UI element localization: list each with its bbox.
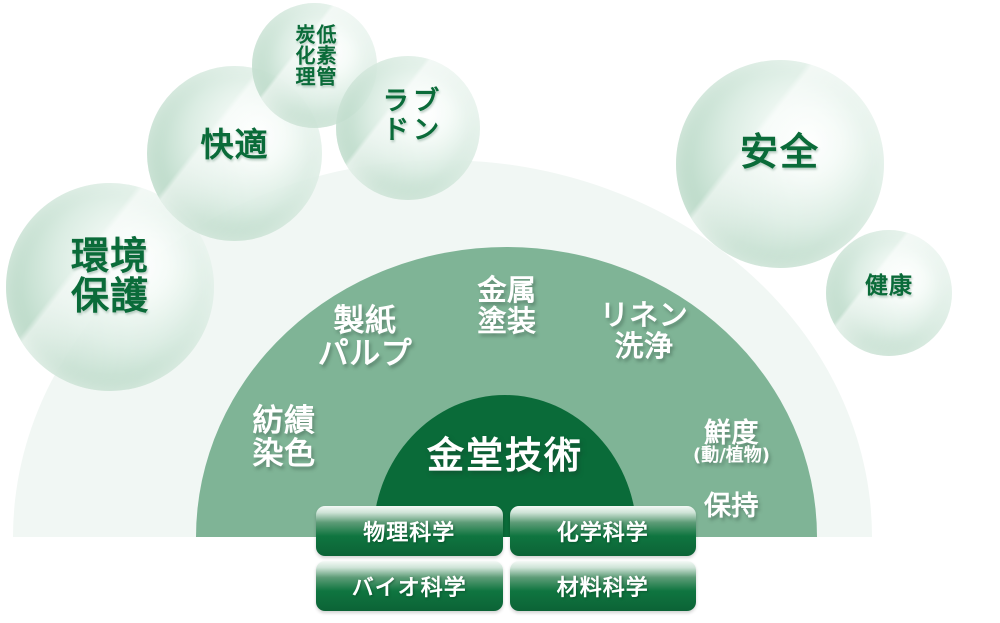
bubble-brand[interactable]: ラド ブン — [336, 56, 480, 200]
science-foundation-button-group: 物理科学 化学科学 バイオ科学 材料科学 — [316, 506, 696, 611]
bubble-health[interactable]: 健康 — [826, 230, 952, 356]
carbon-column-right: 低素管 — [315, 24, 335, 87]
brand-column-right: ブン — [410, 86, 437, 144]
button-physical-science[interactable]: 物理科学 — [316, 506, 503, 556]
button-material-science[interactable]: 材料科学 — [510, 561, 697, 611]
diagram-canvas: 製紙 パルプ 金属 塗装 リネン 洗浄 紡績 染色 鮮度 (動/植物) 保持 金… — [0, 0, 1000, 623]
dome-label-freshness-retention: 鮮度 (動/植物) 保持 — [669, 392, 794, 520]
freshness-line-3: 保持 — [704, 491, 759, 522]
button-bio-science[interactable]: バイオ科学 — [316, 561, 503, 611]
button-chemical-science[interactable]: 化学科学 — [510, 506, 697, 556]
bubble-label-brand: ラド ブン — [336, 86, 480, 144]
core-technology-label: 金堂技術 — [385, 436, 625, 476]
carbon-column-left: 炭化理 — [294, 24, 314, 87]
dome-label-paper-pulp: 製紙 パルプ — [300, 305, 430, 372]
bubble-label-environment-protection: 環境 保護 — [6, 237, 214, 316]
dome-label-spinning-dyeing: 紡績 染色 — [229, 405, 339, 472]
dome-label-metal-coating: 金属 塗装 — [447, 275, 567, 338]
dome-label-linen-washing: リネン 洗浄 — [578, 300, 710, 363]
freshness-line-2: (動/植物) — [669, 447, 794, 465]
bubble-label-comfort: 快適 — [147, 128, 322, 162]
bubble-label-health: 健康 — [826, 275, 952, 299]
bubble-label-safety: 安全 — [676, 133, 884, 173]
brand-column-left: ラド — [380, 86, 407, 144]
bubble-safety[interactable]: 安全 — [676, 60, 884, 268]
freshness-line-1: 鮮度 — [704, 418, 759, 449]
